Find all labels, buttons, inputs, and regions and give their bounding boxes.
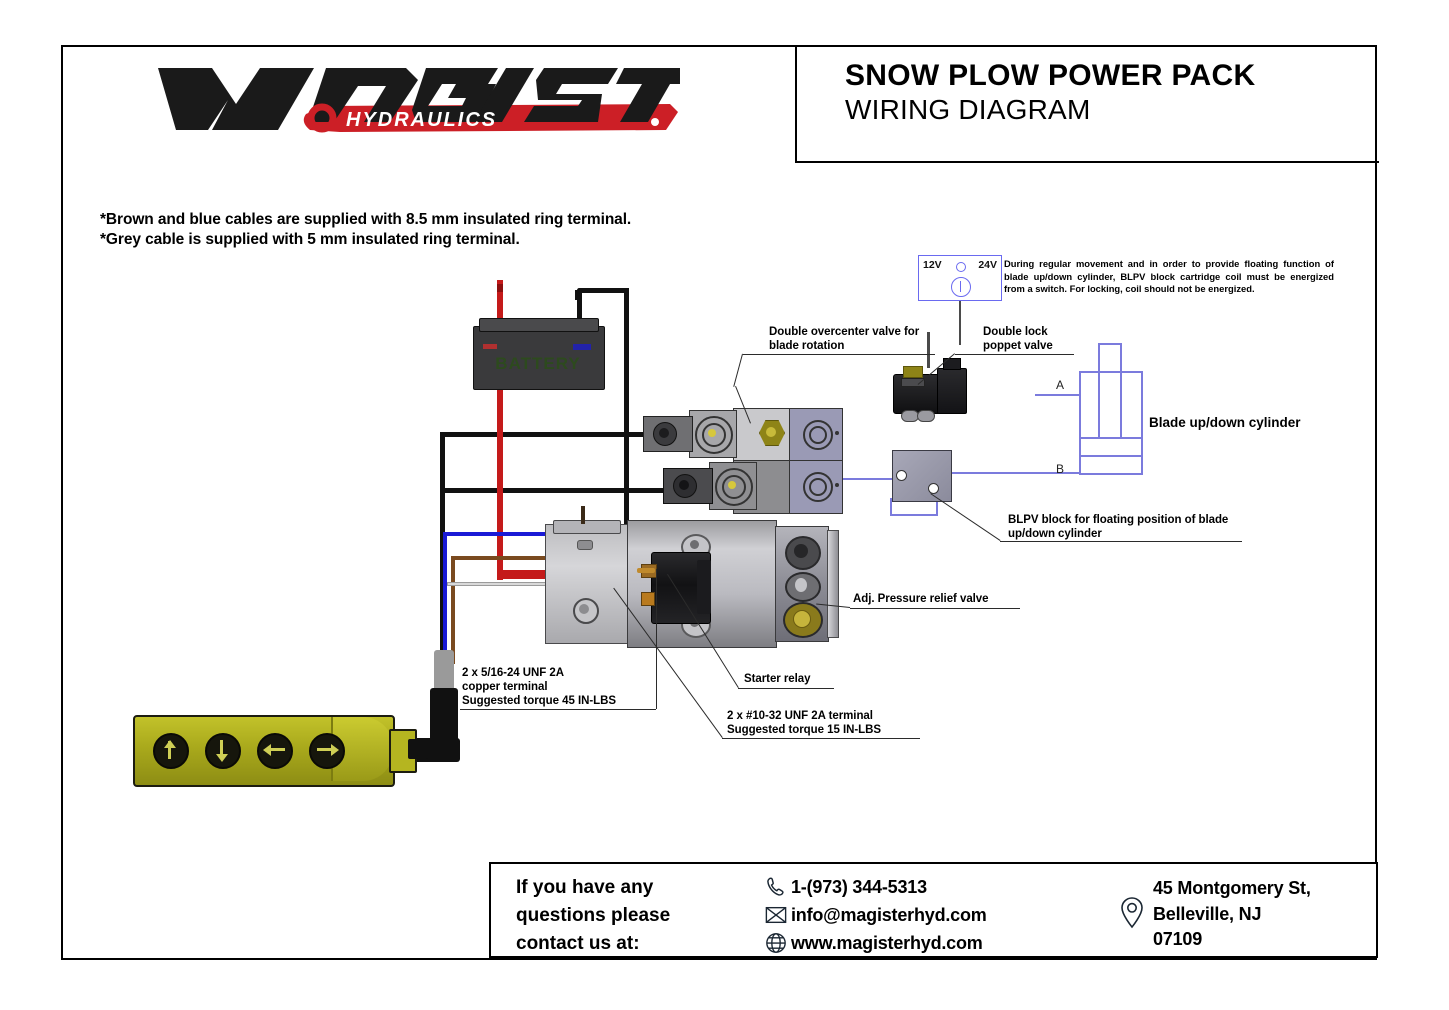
callout-poppet-underline xyxy=(955,354,1074,355)
cylinder-body-top xyxy=(1079,371,1143,373)
voltage-24v-label: 24V xyxy=(978,259,997,271)
callout-poppet-line1: Double lock xyxy=(983,325,1103,339)
blpv-port-lower xyxy=(928,483,939,494)
footer-contact-details: 1-(973) 344-5313 info@magisterhyd.com xyxy=(761,875,1091,959)
footer-prompt-line2: questions please xyxy=(516,902,721,930)
cylinder-label: Blade up/down cylinder xyxy=(1149,415,1301,430)
callout-small-terminal: 2 x #10-32 UNF 2A terminal Suggested tor… xyxy=(727,709,937,737)
pendant-button-down xyxy=(205,733,241,769)
port-b-label: B xyxy=(1056,462,1064,476)
pendant-button-right xyxy=(309,733,345,769)
callout-copper-terminal: 2 x 5/16-24 UNF 2A copper terminal Sugge… xyxy=(462,666,662,708)
power-pack-assembly xyxy=(545,520,845,650)
footer-address-line2: Belleville, NJ xyxy=(1153,902,1311,928)
battery: BATTERY xyxy=(473,318,603,388)
header-bottom-rule xyxy=(795,161,1379,163)
callout-blpv-line2: up/down cylinder xyxy=(1008,527,1258,541)
callout-poppet-line2: poppet valve xyxy=(983,339,1103,353)
switch-toggle-icon[interactable] xyxy=(951,277,971,297)
cable-notes: *Brown and blue cables are supplied with… xyxy=(100,210,820,250)
port-a-label: A xyxy=(1056,378,1064,392)
cylinder-body-right xyxy=(1141,371,1143,475)
pendant-button-left xyxy=(257,733,293,769)
footer-email-address: info@magisterhyd.com xyxy=(791,905,987,926)
callout-terminal-line1: 2 x #10-32 UNF 2A terminal xyxy=(727,709,937,723)
cylinder-rod-right xyxy=(1120,343,1122,437)
blue-cable-vertical xyxy=(443,532,447,662)
red-cable-cap xyxy=(497,284,503,292)
callout-blpv-underline xyxy=(1000,541,1242,542)
solenoid-connector xyxy=(937,368,967,414)
magister-hydraulics-logo: HYDRAULICS xyxy=(150,60,680,145)
poppet-valve-gold-cap xyxy=(903,366,923,378)
cylinder-base-line xyxy=(1079,455,1143,457)
location-pin-icon xyxy=(1111,876,1153,930)
switch-lead-line xyxy=(959,301,961,345)
callout-copper-line3: Suggested torque 45 IN-LBS xyxy=(462,694,662,708)
callout-terminal-line2: Suggested torque 15 IN-LBS xyxy=(727,723,937,737)
footer-address-text: 45 Montgomery St, Belleville, NJ 07109 xyxy=(1153,876,1311,953)
hydraulic-valve-manifold xyxy=(675,408,825,518)
battery-positive-marker xyxy=(483,344,497,349)
page-title: SNOW PLOW POWER PACK xyxy=(845,60,1365,92)
callout-relief-underline xyxy=(850,608,1020,609)
footer-prompt-line3: contact us at: xyxy=(516,930,721,958)
phone-icon xyxy=(761,876,791,898)
battery-black-lead-top xyxy=(577,288,629,293)
footer-website-url: www.magisterhyd.com xyxy=(791,933,983,954)
switch-pivot-icon xyxy=(956,262,966,272)
footer-phone-number: 1-(973) 344-5313 xyxy=(791,877,927,898)
callout-starter-relay-text: Starter relay xyxy=(744,672,874,686)
blpv-block xyxy=(892,450,950,500)
callout-copper-line2: copper terminal xyxy=(462,680,662,694)
cylinder-port-a-line xyxy=(1035,394,1081,396)
callout-poppet-valve: Double lock poppet valve xyxy=(983,325,1103,353)
cylinder-rod-left xyxy=(1098,343,1100,437)
callout-overcenter-valve: Double overcenter valve for blade rotati… xyxy=(769,325,949,353)
callout-copper-leader xyxy=(656,569,657,709)
voltage-switch-box[interactable]: 12V 24V xyxy=(918,255,1002,301)
footer-address-block: 45 Montgomery St, Belleville, NJ 07109 xyxy=(1111,876,1311,953)
blpv-operation-note: During regular movement and in order to … xyxy=(1004,258,1334,296)
cable-note-line-1: *Brown and blue cables are supplied with… xyxy=(100,210,820,230)
blpv-port-left xyxy=(896,470,907,481)
footer-address-line3: 07109 xyxy=(1153,927,1311,953)
callout-starter-relay-underline xyxy=(738,688,834,689)
battery-label: BATTERY xyxy=(473,354,603,374)
voltage-12v-label: 12V xyxy=(923,259,942,271)
callout-relief-text: Adj. Pressure relief valve xyxy=(853,592,1053,606)
pendant-button-up xyxy=(153,733,189,769)
callout-overcenter-underline xyxy=(743,354,935,355)
cable-note-line-2: *Grey cable is supplied with 5 mm insula… xyxy=(100,230,820,250)
svg-text:HYDRAULICS: HYDRAULICS xyxy=(346,109,497,131)
footer-email-row[interactable]: info@magisterhyd.com xyxy=(761,903,1091,928)
cylinder-body-bottom xyxy=(1079,473,1143,475)
cylinder-rod-seal xyxy=(1079,437,1143,439)
footer-website-row[interactable]: www.magisterhyd.com xyxy=(761,931,1091,956)
page-subtitle: WIRING DIAGRAM xyxy=(845,94,1365,125)
footer-contact-block: If you have any questions please contact… xyxy=(489,862,1378,958)
callout-terminal-underline xyxy=(722,738,920,739)
wiring-diagram-page: HYDRAULICS SNOW PLOW POWER PACK WIRING D… xyxy=(0,0,1449,1010)
control-pendant[interactable] xyxy=(133,715,416,783)
footer-prompt-line1: If you have any xyxy=(516,874,721,902)
callout-blpv-block: BLPV block for floating position of blad… xyxy=(1008,513,1258,541)
footer-contact-prompt: If you have any questions please contact… xyxy=(516,874,721,958)
envelope-icon xyxy=(761,905,791,925)
callout-blpv-line1: BLPV block for floating position of blad… xyxy=(1008,513,1258,527)
callout-relief-valve: Adj. Pressure relief valve xyxy=(853,592,1053,606)
cylinder-body-left xyxy=(1079,371,1081,475)
callout-overcenter-line1: Double overcenter valve for xyxy=(769,325,949,339)
header-divider xyxy=(795,45,797,163)
title-block: SNOW PLOW POWER PACK WIRING DIAGRAM xyxy=(845,60,1365,155)
blpv-blue-run xyxy=(890,514,938,516)
battery-negative-marker xyxy=(573,344,591,350)
globe-icon xyxy=(761,932,791,954)
callout-starter-relay: Starter relay xyxy=(744,672,874,686)
callout-overcenter-line2: blade rotation xyxy=(769,339,949,353)
cable-grey-sheath xyxy=(434,650,454,692)
footer-phone-row[interactable]: 1-(973) 344-5313 xyxy=(761,875,1091,900)
callout-copper-underline xyxy=(460,709,656,710)
brown-cable-vertical xyxy=(451,556,455,664)
footer-address-line1: 45 Montgomery St, xyxy=(1153,876,1311,902)
callout-copper-line1: 2 x 5/16-24 UNF 2A xyxy=(462,666,662,680)
